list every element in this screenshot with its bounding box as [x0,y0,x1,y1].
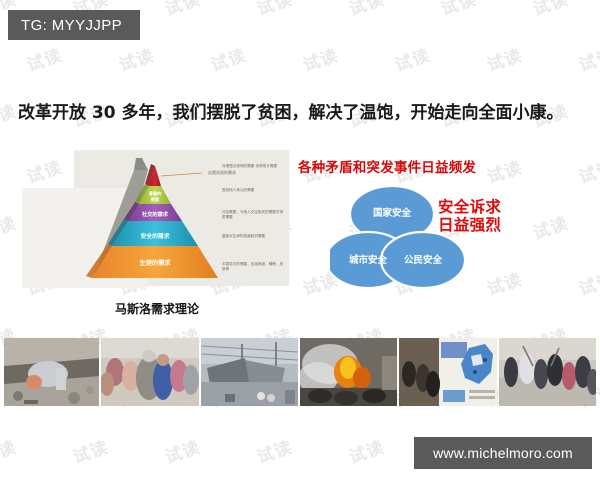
venn-label-citizen: 公民安全 [390,252,456,266]
watermark-text: 试读 [483,41,525,76]
pyramid-annotation-5: 本能层次的需要，包括食欲、睡眠、皮肤等 [222,262,284,272]
watermark-text: 试读 [207,41,249,76]
svg-text:需要: 需要 [151,196,160,203]
photo-crowd-conflict-scene [499,338,596,406]
security-venn-figure: 各种矛盾和突发事件日益频发 国家安全 城市安全 公民安全 安全诉求 日益强烈 [296,152,596,312]
watermark-text: 试读 [437,0,479,20]
venn-label-national: 国家安全 [359,205,425,219]
venn-heading: 各种矛盾和突发事件日益频发 [298,156,476,176]
tg-handle-label: TG: MYYJJPP [21,17,122,34]
watermark-text: 试读 [0,209,19,244]
pyramid-annotation-2: 受到他人承认的需要 [222,188,284,193]
watermark-text: 试读 [345,433,387,468]
pyramid-annotation-3: 社会需要，与他人交往相关的需要去得更需要 [222,210,284,220]
slide-canvas: 试读试读试读试读试读试读试读试读试读试读试读试读试读试读试读试读试读试读试读试读… [0,0,600,480]
svg-text:尊重的: 尊重的 [149,190,162,197]
venn-callout-line2: 日益强烈 [438,216,501,234]
maslow-pyramid-figure: 生理的需求 安全的需求 社交的需求 尊重的 需要 自我实现的需求 对理想业现场的… [22,148,292,328]
watermark-text: 试读 [161,433,203,468]
watermark-text: 试读 [115,41,157,76]
pyramid-caption: 马斯洛需求理论 [22,300,292,317]
watermark-text: 试读 [299,41,341,76]
watermark-text: 试读 [23,41,65,76]
watermark-text: 试读 [69,433,111,468]
watermark-text: 试读 [0,97,19,132]
venn-callout: 安全诉求 日益强烈 [438,198,501,235]
svg-text:安全的需求: 安全的需求 [141,232,170,240]
pyramid-graphic: 生理的需求 安全的需求 社交的需求 尊重的 需要 自我实现的需求 [30,152,280,294]
photo-news-map-graphic [399,338,496,406]
watermark-text: 试读 [253,0,295,20]
venn-callout-line1: 安全诉求 [438,198,501,216]
pyramid-annotation-1: 对理想业现场的需要 也称成长需要 [222,164,284,169]
photo-fire-explosion-street [300,338,397,406]
watermark-text: 试读 [391,41,433,76]
watermark-text: 试读 [161,0,203,20]
watermark-text: 试读 [529,0,571,20]
tg-handle-badge: TG: MYYJJPP [8,10,140,40]
site-url-badge: www.michelmoro.com [414,437,592,469]
svg-text:自我实现的需求: 自我实现的需求 [208,169,236,175]
photo-strip [4,338,596,406]
photo-train-wreck-derailment [201,338,298,406]
svg-text:生理的需求: 生理的需求 [140,259,172,267]
watermark-text: 试读 [253,433,295,468]
page-title: 改革开放 30 多年，我们摆脱了贫困，解决了温饱，开始走向全面小康。 [18,98,588,123]
site-url-label: www.michelmoro.com [433,445,573,461]
watermark-text: 试读 [0,433,19,468]
pyramid-annotation-4: 避免对生命构成威胁的需要 [222,234,284,239]
watermark-text: 试读 [345,0,387,20]
svg-text:社交的需求: 社交的需求 [141,210,169,218]
photo-crowd-rescue-scene [101,338,198,406]
photo-collapsed-building-rubble [4,338,99,406]
watermark-text: 试读 [575,41,600,76]
